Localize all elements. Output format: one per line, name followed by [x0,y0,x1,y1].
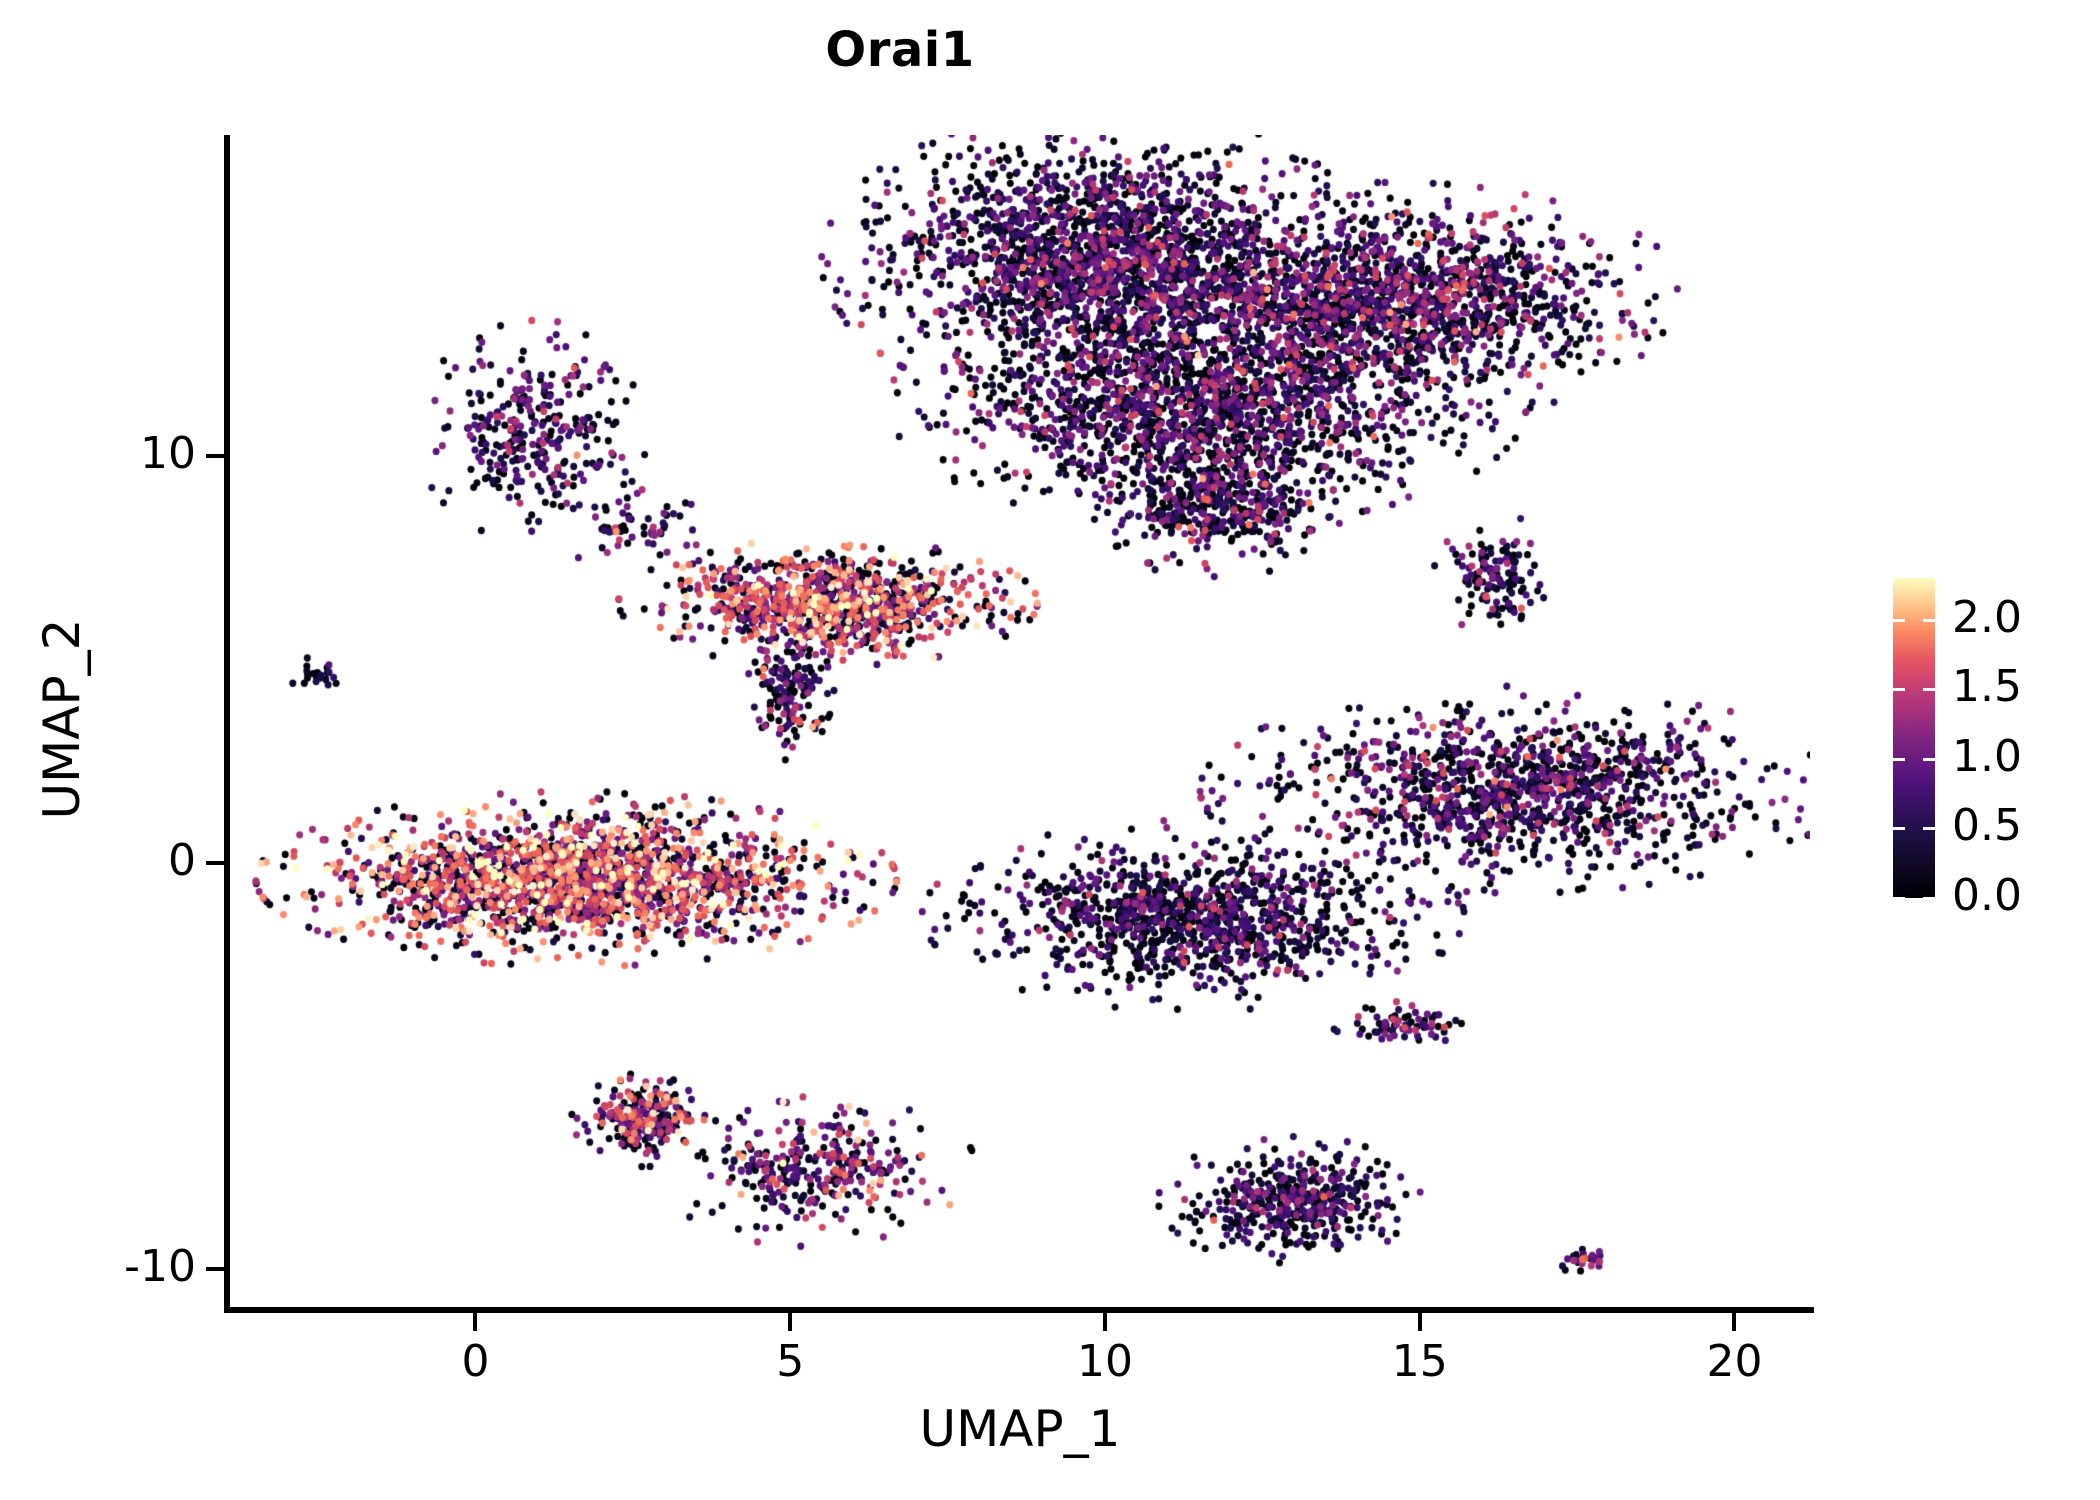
colorbar-tick-mark [1893,688,1905,691]
figure-canvas: Orai1 05101520 -10010 UMAP_1 UMAP_2 2.01… [0,0,2100,1500]
colorbar-tick-label: 1.5 [1952,661,2092,712]
colorbar-tick-mark [1923,619,1935,622]
x-tick-label: 5 [730,1336,850,1387]
y-tick-label: -10 [0,1241,196,1292]
colorbar-gradient [1893,578,1935,898]
colorbar-tick-label: 2.0 [1952,592,2092,643]
colorbar-tick-label: 0.5 [1952,800,2092,851]
colorbar-tick-label: 0.0 [1952,870,2092,921]
plot-title: Orai1 [0,22,1800,78]
y-tick-mark [206,861,226,865]
colorbar-tick-mark [1893,619,1905,622]
colorbar-tick-mark [1923,827,1935,830]
colorbar-tick-mark [1893,827,1905,830]
x-tick-mark [1418,1313,1422,1331]
x-tick-label: 10 [1045,1336,1165,1387]
colorbar-tick-mark [1923,688,1935,691]
y-tick-label: 0 [0,835,196,886]
x-tick-mark [788,1313,792,1331]
colorbar-tick-label: 1.0 [1952,731,2092,782]
x-tick-mark [1103,1313,1107,1331]
colorbar-tick-mark [1893,758,1905,761]
colorbar-tick-mark [1893,897,1905,900]
scatter-points-layer [230,135,1810,1310]
colorbar-tick-mark [1923,897,1935,900]
colorbar-tick-mark [1923,758,1935,761]
x-axis-label: UMAP_1 [230,1400,1810,1458]
x-tick-label: 15 [1360,1336,1480,1387]
scatter-plot-area [230,135,1810,1310]
x-tick-label: 20 [1674,1336,1794,1387]
x-tick-label: 0 [415,1336,535,1387]
y-tick-mark [206,1267,226,1271]
x-tick-mark [1732,1313,1736,1331]
y-tick-label: 10 [0,428,196,479]
x-tick-mark [473,1313,477,1331]
y-axis-label: UMAP_2 [33,339,91,1099]
y-tick-mark [206,454,226,458]
